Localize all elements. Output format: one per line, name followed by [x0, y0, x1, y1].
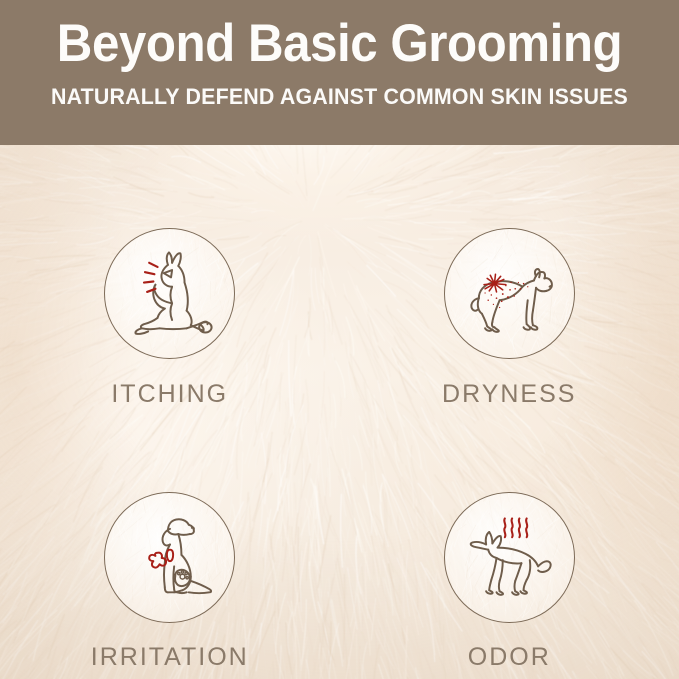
icon-badge-irritation: [104, 492, 235, 623]
icon-badge-odor: [444, 492, 575, 623]
dog-scratching-icon: [118, 242, 222, 346]
feature-item-irritation: IRRITATION: [0, 412, 340, 679]
dog-odor-icon: [457, 506, 561, 610]
feature-label-dryness: DRYNESS: [442, 380, 576, 409]
feature-item-odor: ODOR: [340, 412, 679, 679]
feature-label-odor: ODOR: [468, 643, 551, 672]
dog-irritated-patches-icon: [118, 506, 222, 610]
header-banner: Beyond Basic Grooming NATURALLY DEFEND A…: [0, 0, 679, 145]
feature-item-itching: ITCHING: [0, 145, 340, 412]
irritation-patch-accent: [149, 549, 173, 567]
icon-badge-itching: [104, 228, 235, 359]
feature-label-irritation: IRRITATION: [91, 643, 249, 672]
promotional-poster: Beyond Basic Grooming NATURALLY DEFEND A…: [0, 0, 679, 679]
feature-grid: ITCHING: [0, 145, 679, 679]
page-title: Beyond Basic Grooming: [24, 0, 655, 75]
icon-badge-dryness: [444, 228, 575, 359]
feature-item-dryness: DRYNESS: [340, 145, 679, 412]
feature-label-itching: ITCHING: [111, 380, 228, 409]
dryness-starburst-accent: [484, 274, 506, 292]
page-subtitle: NATURALLY DEFEND AGAINST COMMON SKIN ISS…: [17, 75, 662, 110]
dog-flaky-skin-icon: [457, 242, 561, 346]
odor-wave-accent: [504, 518, 527, 537]
itch-burst-accent: [144, 262, 158, 291]
